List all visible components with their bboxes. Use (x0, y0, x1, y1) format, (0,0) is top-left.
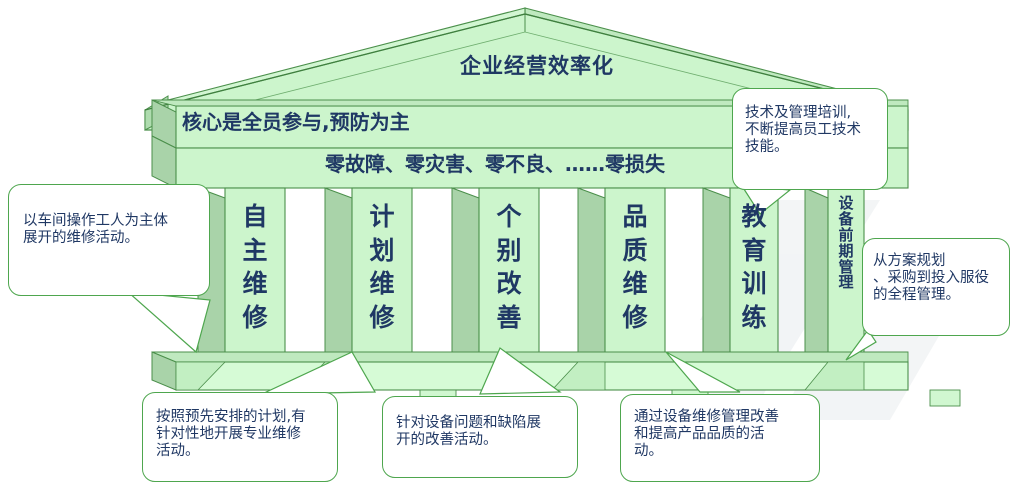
callout-text: 技术及管理培训, 不断提高员工技术 技能。 (745, 105, 885, 156)
tpm-temple-diagram: 企业经营效率化 核心是全员参与,预防为主 零故障、零灾害、零不良、……零损失 自… (0, 0, 1016, 492)
leader-autonomous (128, 292, 210, 352)
callout-quality-maintenance[interactable]: 通过设备维修管理改善 和提高产品品质的活 动。 (620, 394, 820, 482)
callout-text: 针对设备问题和缺陷展 开的改善活动。 (396, 415, 572, 449)
callout-focused-improvement[interactable]: 针对设备问题和缺陷展 开的改善活动。 (382, 396, 578, 478)
callout-text: 从方案规划 、采购到投入服役 的全程管理。 (873, 253, 1007, 304)
callout-text: 按照预先安排的计划,有 针对性地开展专业维修 活动。 (156, 409, 332, 460)
callout-autonomous-maintenance[interactable]: 以车间操作工人为主体 展开的维修活动。 (8, 184, 210, 296)
callout-planned-maintenance[interactable]: 按照预先安排的计划,有 针对性地开展专业维修 活动。 (142, 392, 338, 482)
callout-text: 以车间操作工人为主体 展开的维修活动。 (23, 213, 201, 247)
callout-education-training[interactable]: 技术及管理培训, 不断提高员工技术 技能。 (732, 88, 888, 190)
callout-text: 通过设备维修管理改善 和提高产品品质的活 动。 (634, 409, 814, 460)
callout-early-equipment-management[interactable]: 从方案规划 、采购到投入服役 的全程管理。 (862, 238, 1010, 336)
pillars (198, 188, 864, 370)
